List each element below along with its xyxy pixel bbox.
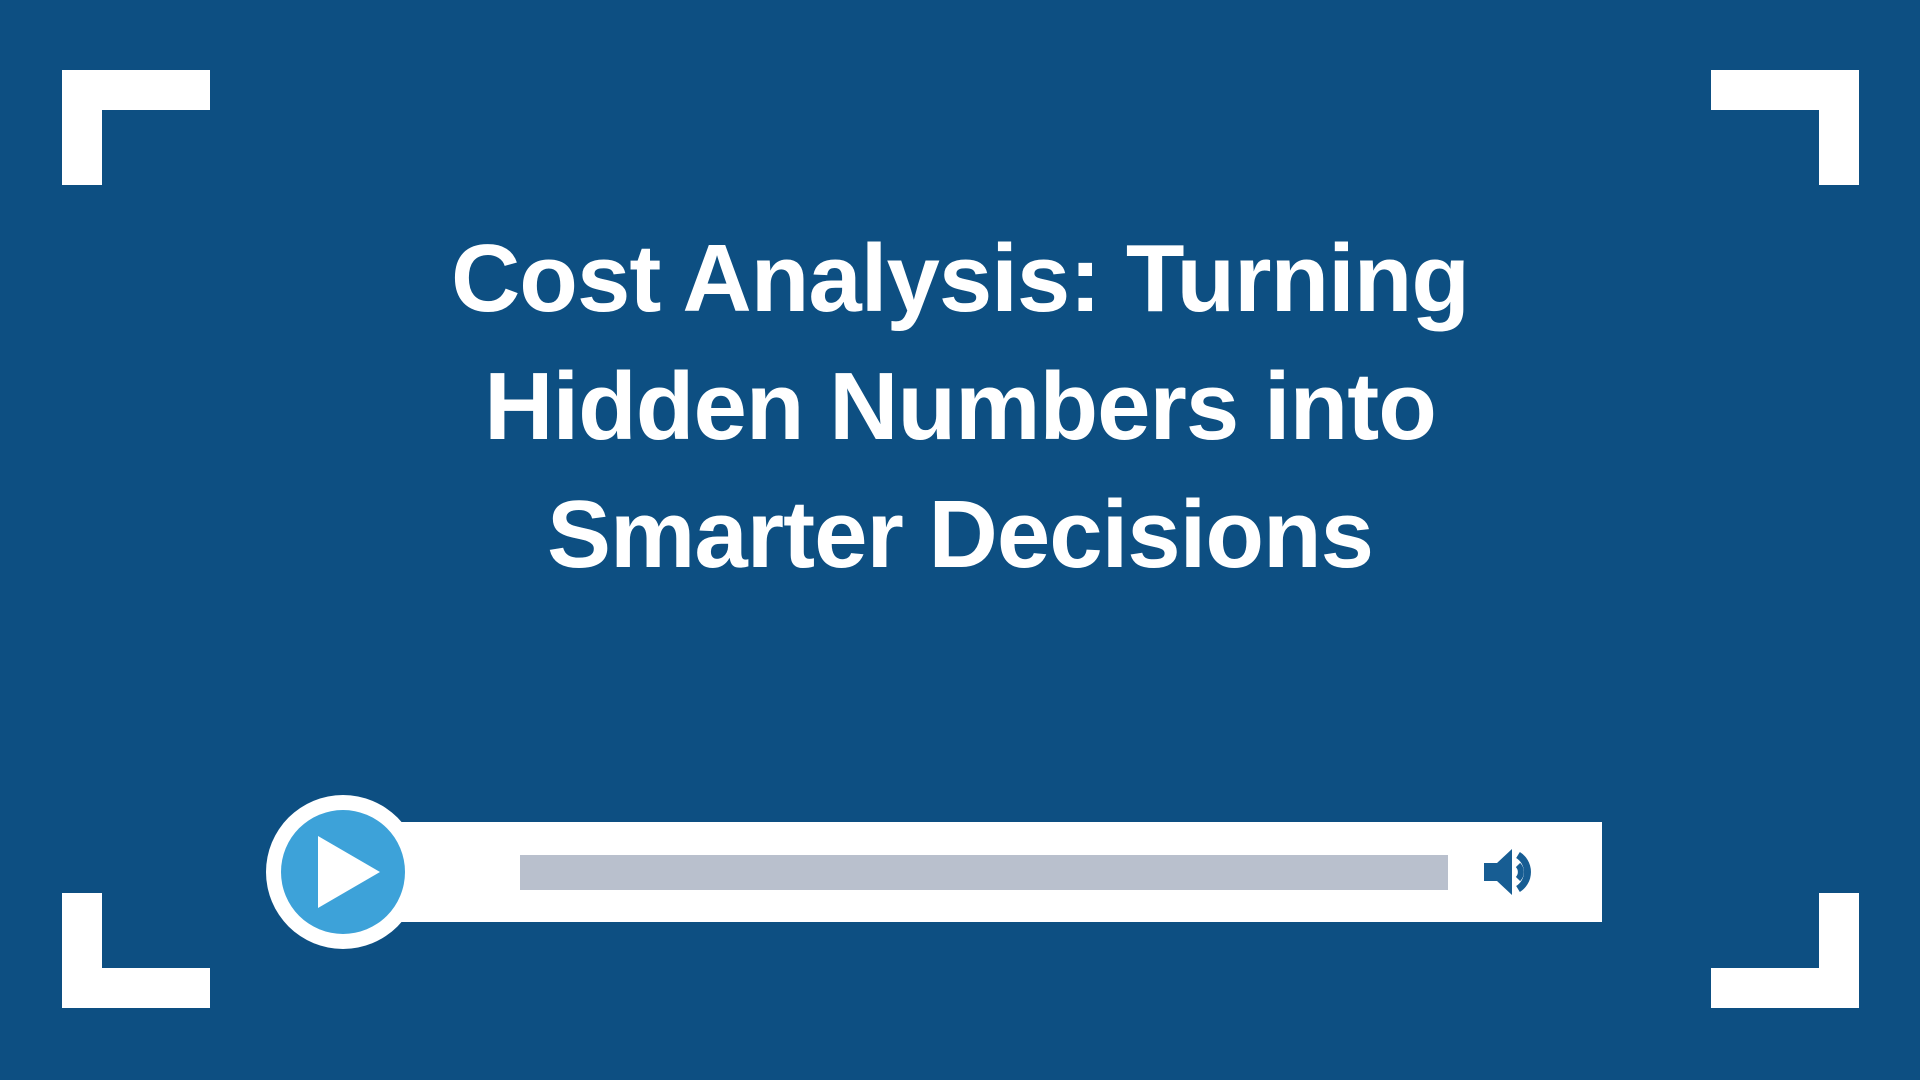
slide-canvas: Cost Analysis: Turning Hidden Numbers in… — [0, 0, 1920, 1080]
player-bar — [330, 822, 1602, 922]
progress-bar-track[interactable] — [520, 855, 1448, 890]
play-button[interactable] — [266, 795, 420, 949]
title-line-3: Smarter Decisions — [160, 471, 1760, 599]
corner-bracket-bottom-right — [1711, 893, 1859, 1008]
bracket-arm-vertical — [1819, 70, 1859, 185]
volume-high-icon[interactable] — [1480, 846, 1542, 898]
media-player — [330, 822, 1602, 922]
bracket-arm-vertical — [1819, 893, 1859, 1008]
bracket-arm-vertical — [62, 893, 102, 1008]
corner-bracket-bottom-left — [62, 893, 210, 1008]
title-line-2: Hidden Numbers into — [160, 343, 1760, 471]
progress-bar-fill — [520, 855, 1448, 890]
corner-bracket-top-right — [1711, 70, 1859, 185]
bracket-arm-vertical — [62, 70, 102, 185]
slide-title: Cost Analysis: Turning Hidden Numbers in… — [160, 215, 1760, 599]
corner-bracket-top-left — [62, 70, 210, 185]
play-button-circle — [281, 810, 405, 934]
title-line-1: Cost Analysis: Turning — [160, 215, 1760, 343]
play-icon — [318, 836, 380, 908]
